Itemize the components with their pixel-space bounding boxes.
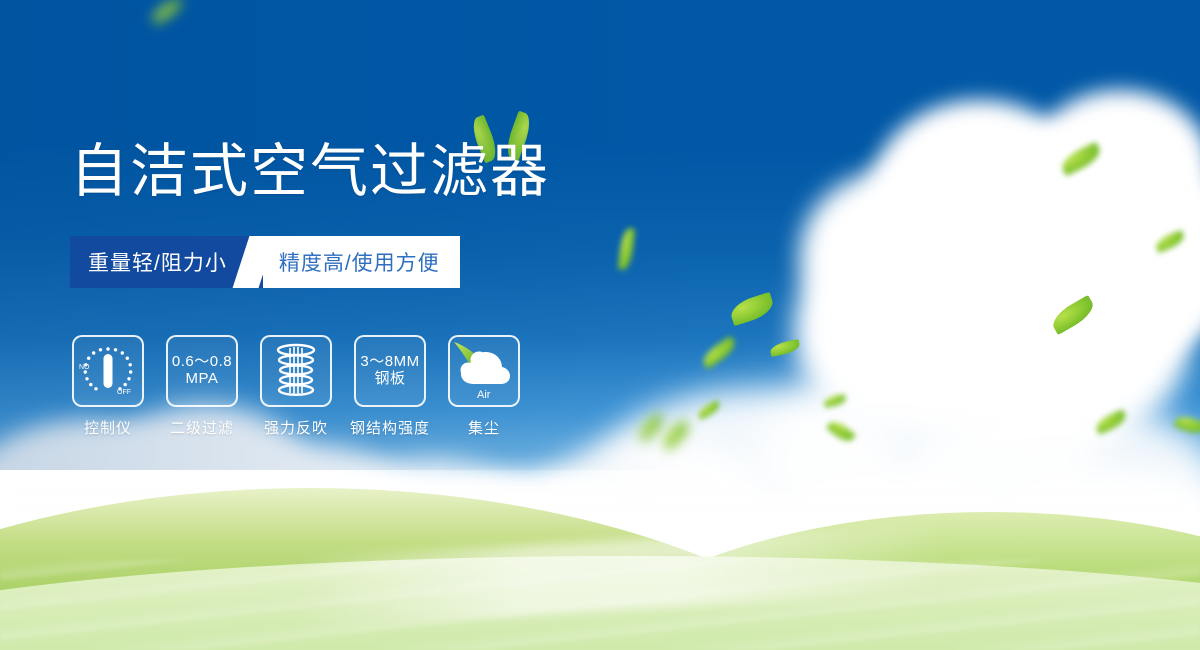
feature-label: 集尘 [468,417,500,438]
feature-label: 二级过滤 [170,417,234,438]
feature-item-two-stage-filter[interactable]: 0.6～0.8 MPA 二级过滤 [166,335,238,438]
gauge-on-label: NO [79,364,90,371]
banner-content: 自洁式空气过滤器 重量轻/阻力小 精度高/使用方便 [0,0,1200,650]
air-cloud-icon: Air [452,340,516,402]
feature-list: NO OFF 控制仪 0.6～0.8 MPA 二级过滤 [72,335,520,438]
feature-item-steel-strength[interactable]: 3～8MM 钢板 钢结构强度 [354,335,426,438]
air-label: Air [477,389,491,401]
feature-icon-box: Air [448,335,520,407]
tagline-badge-secondary: 精度高/使用方便 [263,236,460,288]
feature-item-reverse-blow[interactable]: 强力反吹 [260,335,332,438]
feature-label: 控制仪 [84,417,132,438]
feature-icon-box: 0.6～0.8 MPA [166,335,238,407]
filter-coil-icon [270,343,322,399]
steel-plate-icon: 3～8MM 钢板 [360,354,419,388]
steel-thickness: 3～8MM [360,354,419,371]
product-banner: 自洁式空气过滤器 重量轻/阻力小 精度高/使用方便 [0,0,1200,650]
pressure-value-icon: 0.6～0.8 MPA [172,354,232,388]
pressure-range: 0.6～0.8 [172,354,232,371]
feature-icon-box [260,335,332,407]
feature-label: 钢结构强度 [350,417,430,438]
feature-icon-box: NO OFF [72,335,144,407]
feature-item-dust-collection[interactable]: Air 集尘 [448,335,520,438]
feature-item-control-gauge[interactable]: NO OFF 控制仪 [72,335,144,438]
page-title: 自洁式空气过滤器 [70,143,550,201]
steel-material: 钢板 [360,371,419,388]
tagline-bar: 重量轻/阻力小 精度高/使用方便 [70,236,460,288]
feature-icon-box: 3～8MM 钢板 [354,335,426,407]
feature-label: 强力反吹 [264,417,328,438]
pressure-unit: MPA [172,371,232,388]
gauge-dial-icon: NO OFF [77,342,139,400]
gauge-off-label: OFF [117,389,131,396]
